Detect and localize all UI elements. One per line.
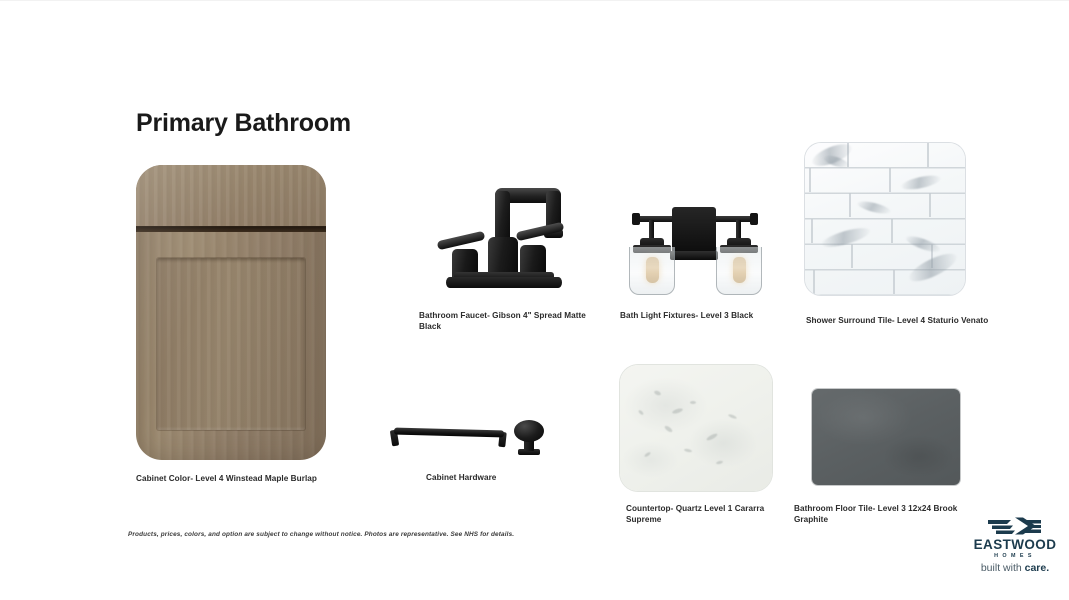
logo-tagline-bold: care. [1025,562,1050,574]
eastwood-homes-logo: EASTWOOD HOMES built with care. [966,515,1064,587]
cabinet-recessed-panel [157,258,305,430]
cabinet-drawer-front [136,165,326,227]
cabinet-hardware-label: Cabinet Hardware [426,472,586,483]
shower-surround-tile-label: Shower Surround Tile- Level 4 Staturio V… [806,315,1021,326]
faucet-spout-riser [495,191,510,243]
logo-tagline: built with care. [966,561,1064,577]
quartz-speck [644,451,651,457]
faucet-left-lever [437,231,486,251]
light-glass-shade-left [629,247,675,295]
shower-surround-tile-swatch[interactable] [805,143,965,295]
logo-tagline-light: built with [981,562,1025,574]
cabinet-door-frame [136,232,326,460]
quartz-speck [638,409,644,415]
light-backplate-cap [670,251,718,260]
disclaimer-text: Products, prices, colors, and option are… [128,531,514,538]
cabinet-color-label: Cabinet Color- Level 4 Winstead Maple Bu… [136,473,336,484]
page-title: Primary Bathroom [136,109,351,138]
cabinet-hardware-image[interactable] [388,413,548,465]
bathroom-faucet-image[interactable] [432,177,582,299]
light-bar-cap-right [750,213,758,225]
cabinet-color-swatch[interactable] [136,165,326,460]
countertop-quartz-swatch[interactable] [620,365,772,491]
light-backplate [672,207,716,253]
logo-wordmark: EASTWOOD [966,538,1064,552]
faucet-deck-plate [446,277,562,288]
quartz-speck [716,460,724,465]
faucet-right-lever [516,222,565,242]
cabinet-door-image [136,165,326,460]
bathroom-floor-tile-label: Bathroom Floor Tile- Level 3 12x24 Brook… [794,503,984,526]
tile-row [805,270,965,294]
design-selections-board: Primary Bathroom Cabinet Color- Level 4 … [0,0,1069,600]
light-bar-cap-left [632,213,640,225]
bathroom-floor-tile-swatch[interactable] [812,389,960,485]
logo-subword: HOMES [966,552,1064,561]
quartz-speck [684,448,692,453]
bathroom-faucet-label: Bathroom Faucet- Gibson 4" Spread Matte … [419,310,609,333]
light-glass-shade-right [716,247,762,295]
quartz-speck [664,425,674,434]
quartz-speck [653,390,661,397]
bath-light-fixture-image[interactable] [620,193,770,298]
tile-row [805,168,965,192]
quartz-speck [728,413,737,419]
countertop-label: Countertop- Quartz Level 1 Cararra Supre… [626,503,786,526]
knob-head [514,420,544,442]
quartz-speck [706,432,718,441]
quartz-speck [690,401,696,404]
quartz-speck [672,407,684,414]
bar-pull-handle [394,428,504,438]
bath-light-fixture-label: Bath Light Fixtures- Level 3 Black [620,310,770,321]
eastwood-logo-mark [987,515,1043,537]
